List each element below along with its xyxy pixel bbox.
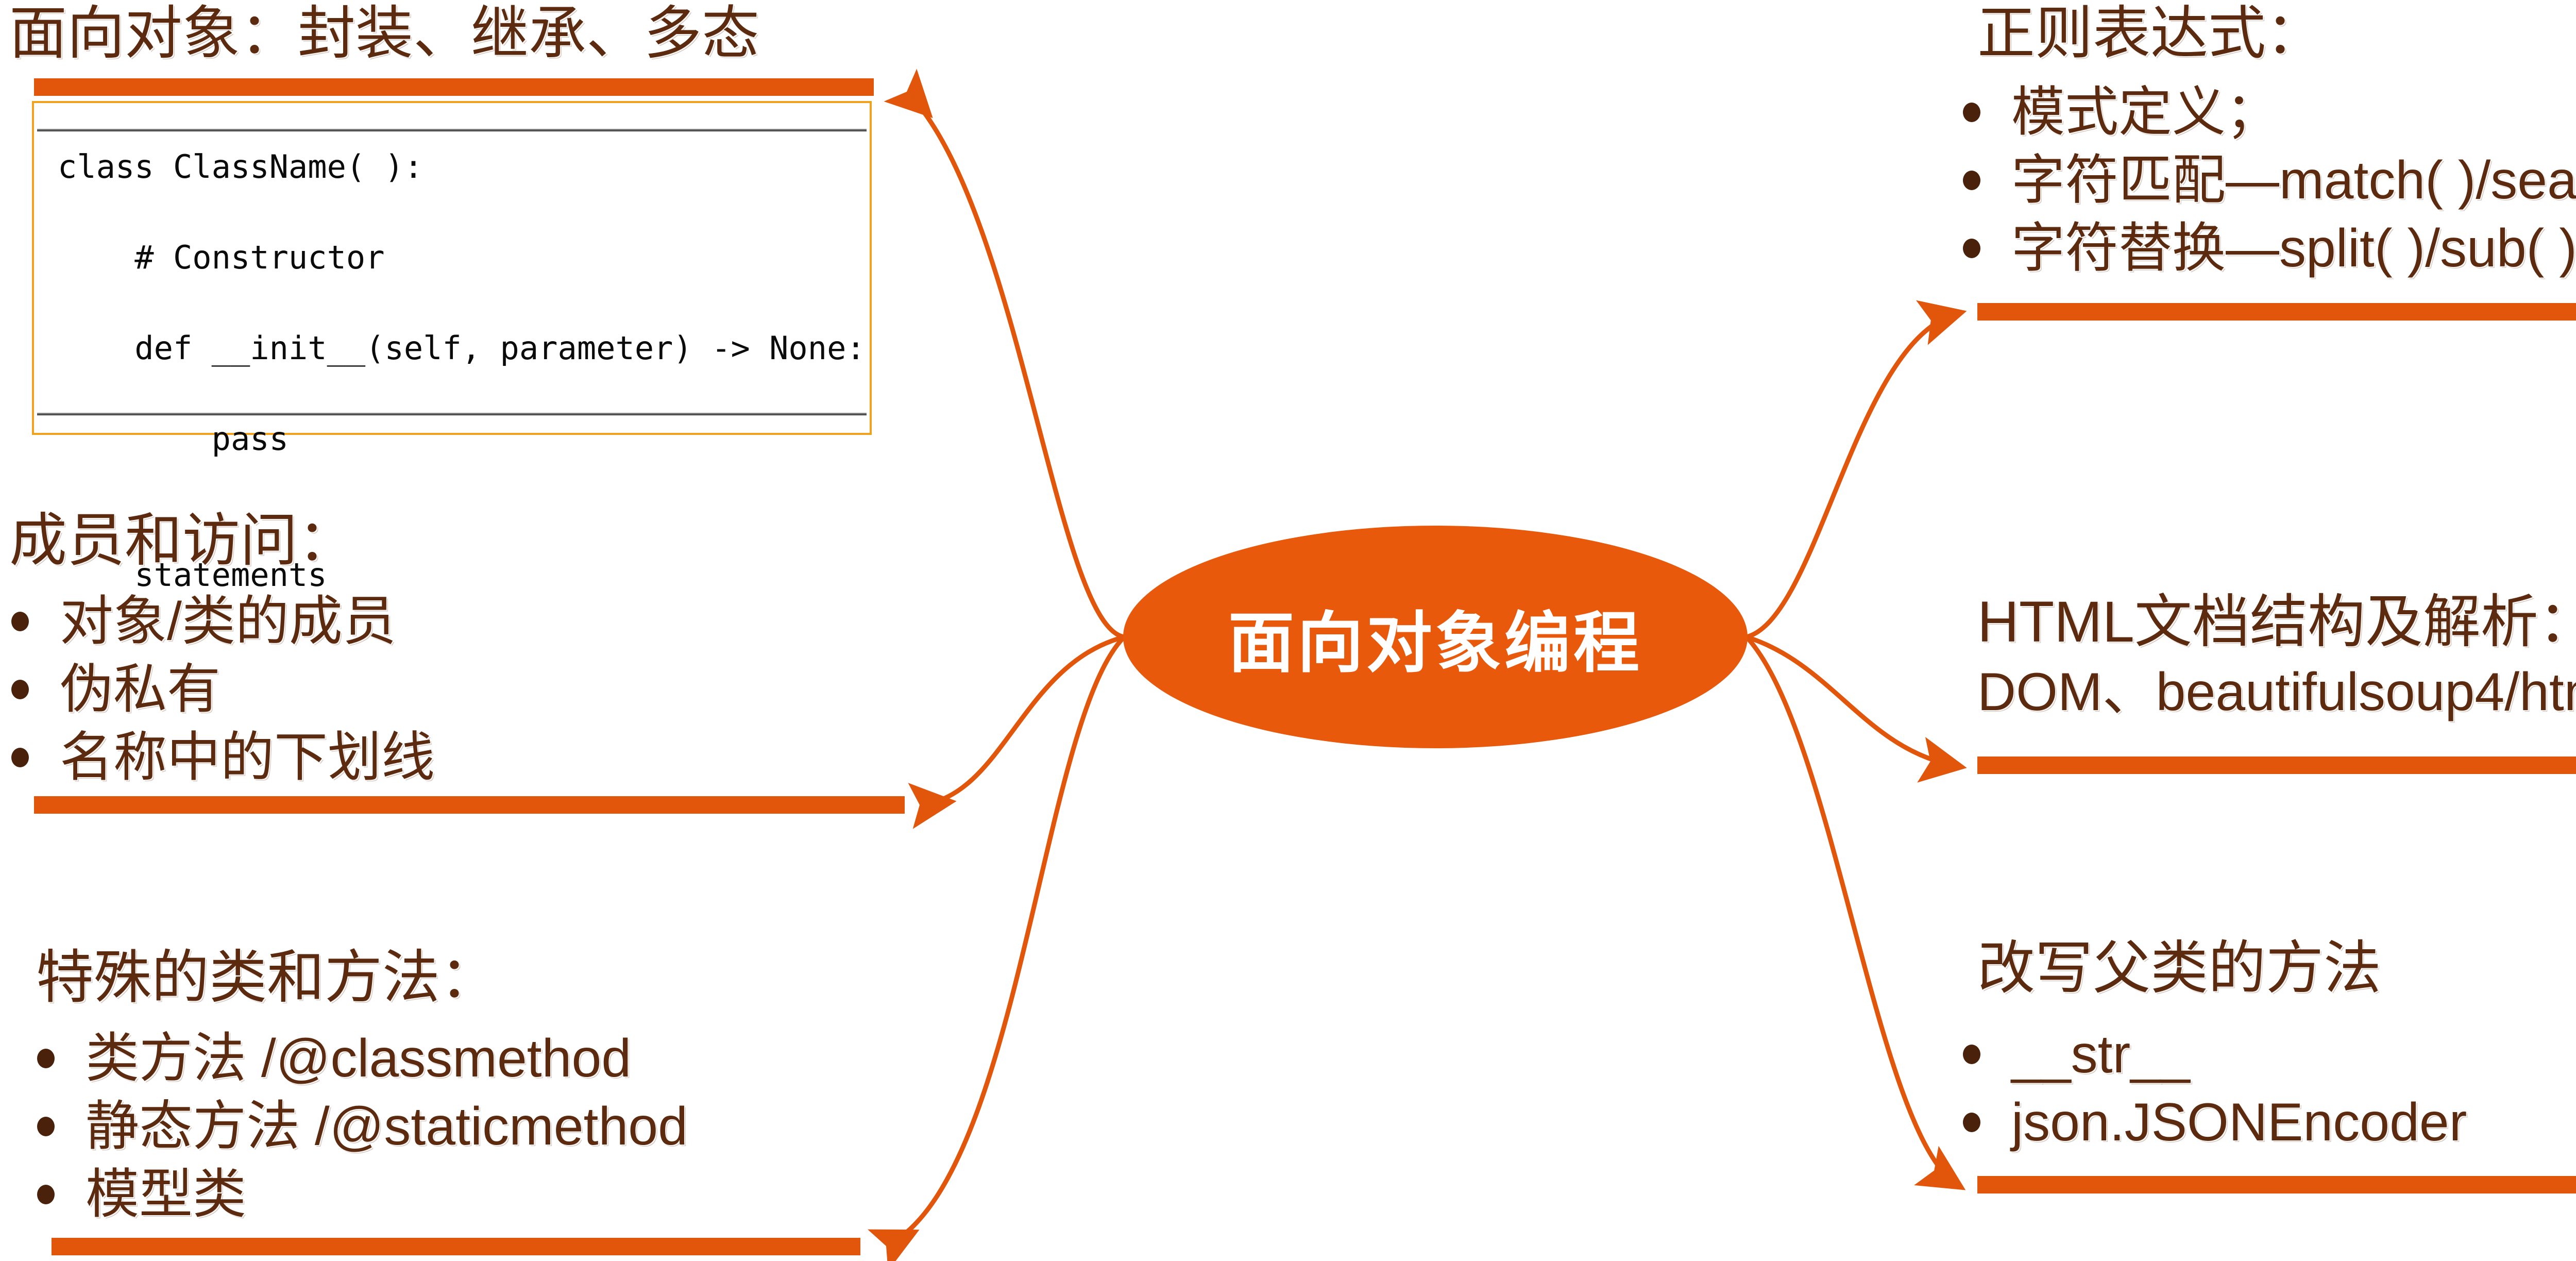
list-item: 伪私有 [11, 655, 435, 724]
code-rule-bottom [37, 413, 867, 415]
list-item: __str__ [1963, 1020, 2467, 1088]
list-item-label: json.JSONEncoder [2011, 1096, 2467, 1149]
list-mid-left: 对象/类的成员 伪私有 名称中的下划线 [11, 587, 435, 792]
code-rule-top [37, 129, 867, 131]
list-item: 类方法 /@classmethod [37, 1024, 688, 1092]
list-item-label: 字符匹配—match( )/search( )/findall( ) [2011, 154, 2576, 207]
list-item: 字符替换—split( )/sub( )/subn( ) [1963, 214, 2576, 282]
list-item-label: 静态方法 /@staticmethod [86, 1100, 688, 1153]
subtitle-mid-right: DOM、beautifulsoup4/html.parser [1977, 664, 2576, 720]
list-item-label: 模式定义； [2011, 86, 2279, 139]
connector-top-left [907, 92, 1124, 637]
bullet-dot-icon [11, 680, 29, 699]
bullet-dot-icon [11, 612, 29, 631]
central-node-label: 面向对象编程 [1228, 590, 1642, 685]
bar-mid-left [34, 796, 905, 814]
list-item-label: __str__ [2011, 1028, 2190, 1081]
list-item: 模型类 [37, 1161, 688, 1229]
list-item-label: 字符替换—split( )/sub( )/subn( ) [2011, 222, 2576, 275]
connector-bottom-right [1747, 637, 1958, 1185]
connector-mid-left [920, 637, 1124, 805]
bullet-dot-icon [1963, 171, 1980, 190]
bullet-dot-icon [1963, 1113, 1980, 1132]
bullet-dot-icon [11, 748, 29, 767]
bar-bottom-left [52, 1238, 860, 1255]
bullet-dot-icon [37, 1049, 55, 1068]
bar-mid-right [1977, 756, 2576, 774]
heading-top-right: 正则表达式： [1977, 3, 2324, 64]
heading-mid-right: HTML文档结构及解析： [1977, 592, 2576, 653]
list-item-label: 类方法 /@classmethod [86, 1032, 631, 1085]
bullet-dot-icon [1963, 239, 1980, 258]
central-node[interactable]: 面向对象编程 [1123, 526, 1748, 748]
connector-top-right [1747, 313, 1958, 637]
list-item: json.JSONEncoder [1963, 1088, 2467, 1156]
list-bottom-left: 类方法 /@classmethod 静态方法 /@staticmethod 模型… [37, 1024, 688, 1229]
heading-mid-left: 成员和访问： [9, 510, 355, 571]
bar-bottom-right [1977, 1176, 2576, 1193]
list-item: 字符匹配—match( )/search( )/findall( ) [1963, 146, 2576, 214]
bar-top-right [1977, 303, 2576, 321]
list-item-label: 模型类 [86, 1168, 246, 1221]
list-item: 静态方法 /@staticmethod [37, 1092, 688, 1161]
mindmap-canvas: 面向对象：封装、继承、多态 class ClassName( ): # Cons… [0, 0, 2576, 1261]
list-item: 模式定义； [1963, 78, 2576, 146]
heading-bottom-left: 特殊的类和方法： [36, 947, 498, 1008]
connector-mid-right [1747, 637, 1958, 766]
connector-bottom-left [886, 637, 1124, 1246]
bullet-dot-icon [1963, 103, 1980, 122]
bar-top-left [34, 78, 874, 96]
heading-top-left: 面向对象：封装、继承、多态 [9, 3, 759, 64]
list-item-label: 伪私有 [60, 663, 221, 716]
list-item-label: 对象/类的成员 [60, 595, 396, 648]
code-card: class ClassName( ): # Constructor def __… [32, 101, 872, 435]
heading-bottom-right: 改写父类的方法 [1977, 938, 2381, 999]
bullet-dot-icon [1963, 1045, 1980, 1064]
list-item: 名称中的下划线 [11, 724, 435, 792]
list-item-label: 名称中的下划线 [60, 731, 435, 784]
list-top-right: 模式定义； 字符匹配—match( )/search( )/findall( )… [1963, 78, 2576, 282]
list-bottom-right: __str__ json.JSONEncoder [1963, 1020, 2467, 1156]
list-item: 对象/类的成员 [11, 587, 435, 655]
bullet-dot-icon [37, 1185, 55, 1204]
bullet-dot-icon [37, 1117, 55, 1136]
